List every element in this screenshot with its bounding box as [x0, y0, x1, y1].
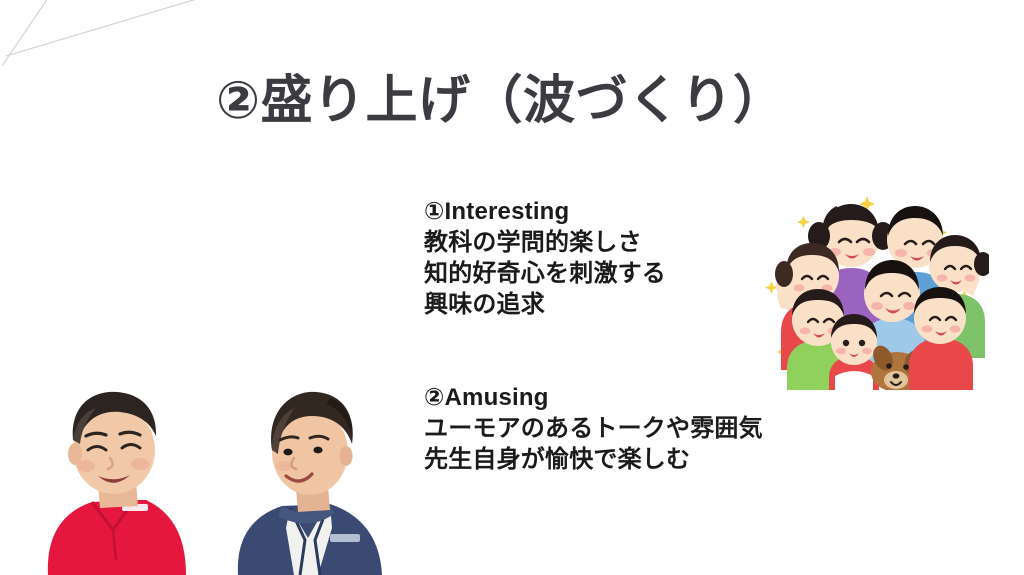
slide-title: ②盛り上げ（波づくり）: [216, 72, 786, 130]
content-block-amusing: ②Amusing ユーモアのあるトークや雰囲気 先生自身が愉快で楽しむ: [424, 382, 763, 475]
child-small-front: [829, 314, 879, 390]
presenter-right: [238, 392, 382, 575]
jacket-chest-logo: [330, 534, 360, 542]
block-line-interesting-2: 知的好奇心を刺激する: [424, 258, 666, 289]
presenter-video-overlay: [0, 378, 410, 575]
star-icon: [797, 216, 810, 229]
cheering-children-illustration: [757, 190, 989, 390]
block-line-interesting-1: 教科の学問的楽しさ: [424, 227, 666, 258]
guide-line-steep: [2, 0, 48, 66]
block-heading-amusing: ②Amusing: [424, 382, 763, 413]
block-line-amusing-2: 先生自身が愉快で楽しむ: [424, 444, 763, 475]
block-heading-interesting: ①Interesting: [424, 196, 666, 227]
presenter-left: [48, 392, 186, 575]
slide-canvas: ②盛り上げ（波づくり） ①Interesting 教科の学問的楽しさ 知的好奇心…: [0, 0, 1024, 575]
guide-line-shallow: [6, 0, 200, 56]
star-icon: [765, 281, 778, 294]
block-line-interesting-3: 興味の追求: [424, 289, 666, 320]
block-line-amusing-1: ユーモアのあるトークや雰囲気: [424, 413, 763, 444]
content-block-interesting: ①Interesting 教科の学問的楽しさ 知的好奇心を刺激する 興味の追求: [424, 196, 666, 320]
